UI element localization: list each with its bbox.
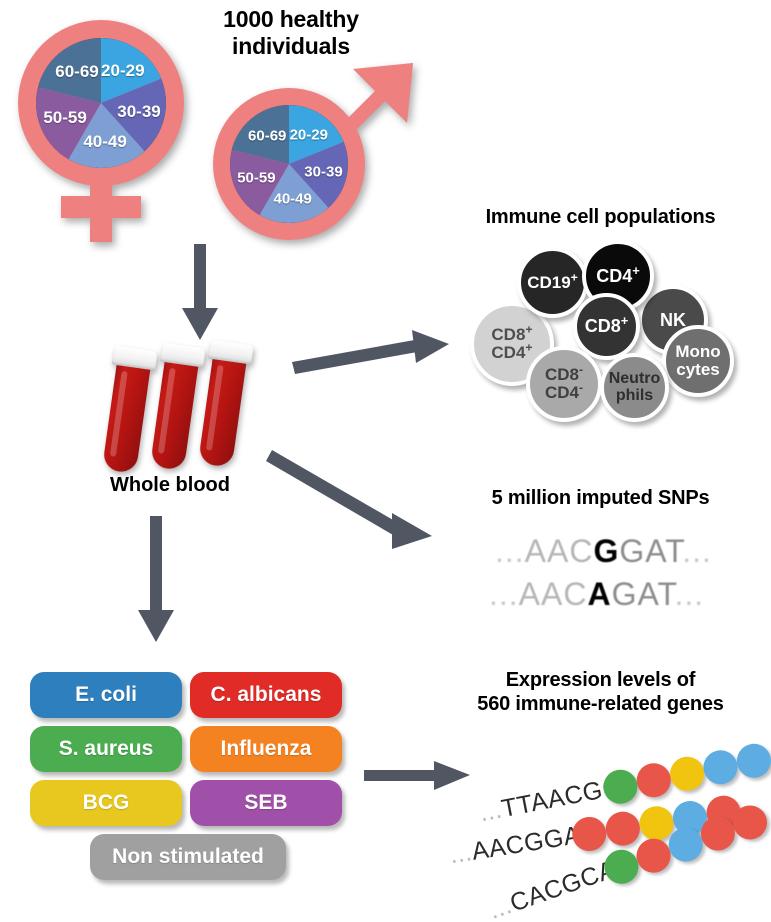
stimulus-seb[interactable]: SEB — [190, 780, 342, 826]
gene-bead — [734, 741, 771, 781]
section-title-expression: Expression levels of 560 immune-related … — [430, 669, 771, 716]
cell-label: Neutrophils — [609, 371, 661, 405]
gene-strands-group: ...TTAACGG ...AACGGAT ...CACGCAA — [458, 752, 771, 912]
stimulus-s-aureus[interactable]: S. aureus — [30, 726, 182, 772]
cell-label: NK — [660, 311, 686, 330]
gene-bead — [701, 747, 741, 787]
blood-tube-highlight — [158, 368, 176, 454]
blood-tube — [102, 352, 152, 474]
cell-label: CD4+ — [596, 267, 640, 286]
cell-cd8pos: CD8+ — [573, 293, 640, 360]
cell-label: Monocytes — [675, 343, 720, 379]
snp-leading-dots: ... — [495, 533, 525, 569]
blood-tube-cap — [160, 343, 206, 368]
cell-monocytes: Monocytes — [662, 325, 734, 397]
stimulus-c-albicans[interactable]: C. albicans — [190, 672, 342, 718]
cell-label: CD8+ — [585, 317, 629, 336]
stimulus-influenza[interactable]: Influenza — [190, 726, 342, 772]
male-symbol: 20-2930-3940-4950-5960-69 — [205, 55, 415, 255]
female-crossbar — [61, 196, 141, 218]
label-whole-blood: Whole blood — [60, 474, 280, 497]
age-pie-male: 20-2930-3940-4950-5960-69 — [230, 105, 348, 223]
snp-right-bases: GAT — [619, 533, 682, 569]
gene-bead — [667, 754, 707, 794]
snp-left-bases: AAC — [519, 576, 588, 612]
stimulus-bcg[interactable]: BCG — [30, 780, 182, 826]
cell-label: CD19+ — [527, 274, 578, 292]
expression-title-line2: 560 immune-related genes — [430, 693, 771, 717]
snp-leading-dots: ... — [489, 576, 519, 612]
arrow-cohort-to-blood — [176, 244, 224, 344]
arrow-blood-to-immune — [292, 330, 452, 380]
stimulus-e-coli[interactable]: E. coli — [30, 672, 182, 718]
age-group-label-20-29: 20-29 — [101, 61, 144, 81]
age-group-label-60-69: 60-69 — [248, 128, 286, 145]
age-group-label-30-39: 30-39 — [304, 163, 342, 180]
study-design-diagram: 1000 healthy individuals 20-2930-3940-49… — [0, 0, 771, 922]
blood-tube-cap — [112, 346, 158, 371]
cell-neutrophils: Neutrophils — [600, 353, 669, 422]
stimuli-panel: E. coli C. albicans S. aureus Influenza … — [30, 672, 360, 902]
gene-bead — [634, 760, 674, 800]
immune-cell-cluster: CD8+CD4+ CD19+ NK CD4+ CD8+ Monocytes CD… — [460, 240, 771, 425]
blood-tube — [150, 349, 200, 471]
female-symbol: 20-2930-3940-4950-5960-69 — [8, 12, 193, 247]
snp-variant-base: G — [593, 533, 619, 569]
section-title-snps: 5 million imputed SNPs — [430, 487, 771, 511]
age-group-label-50-59: 50-59 — [237, 169, 275, 186]
snp-sequence-row: ...AACGGAT... — [495, 533, 712, 570]
cell-label: CD8-CD4- — [545, 366, 583, 402]
section-title-immune-cells: Immune cell populations — [430, 206, 771, 230]
cell-cd19pos: CD19+ — [517, 247, 588, 318]
blood-tube — [198, 346, 248, 468]
blood-tube-cap — [208, 340, 254, 365]
cell-cd8neg-cd4neg: CD8-CD4- — [526, 346, 602, 422]
age-group-label-30-39: 30-39 — [117, 102, 160, 122]
age-group-label-40-49: 40-49 — [83, 132, 126, 152]
gene-bead — [728, 801, 771, 844]
snp-left-bases: AAC — [525, 533, 594, 569]
age-group-label-40-49: 40-49 — [274, 191, 312, 208]
snp-trailing-dots: ... — [682, 533, 712, 569]
snp-trailing-dots: ... — [674, 576, 704, 612]
arrow-blood-to-stimuli — [132, 516, 180, 646]
age-group-label-50-59: 50-59 — [43, 108, 86, 128]
snp-right-bases: GAT — [612, 576, 675, 612]
cell-label: CD8+CD4+ — [491, 326, 532, 362]
stimulus-non-stimulated[interactable]: Non stimulated — [90, 834, 286, 880]
snp-sequence-row: ...AACAGAT... — [489, 576, 704, 613]
age-group-label-60-69: 60-69 — [55, 62, 98, 82]
blood-tube-highlight — [110, 371, 128, 457]
blood-tubes-group — [100, 340, 280, 480]
age-pie-female: 20-2930-3940-4950-5960-69 — [36, 38, 166, 168]
blood-tube-highlight — [206, 365, 224, 451]
arrow-blood-to-snps — [272, 450, 442, 560]
snp-variant-base: A — [587, 576, 611, 612]
age-group-label-20-29: 20-29 — [290, 126, 328, 143]
expression-title-line1: Expression levels of — [430, 669, 771, 693]
